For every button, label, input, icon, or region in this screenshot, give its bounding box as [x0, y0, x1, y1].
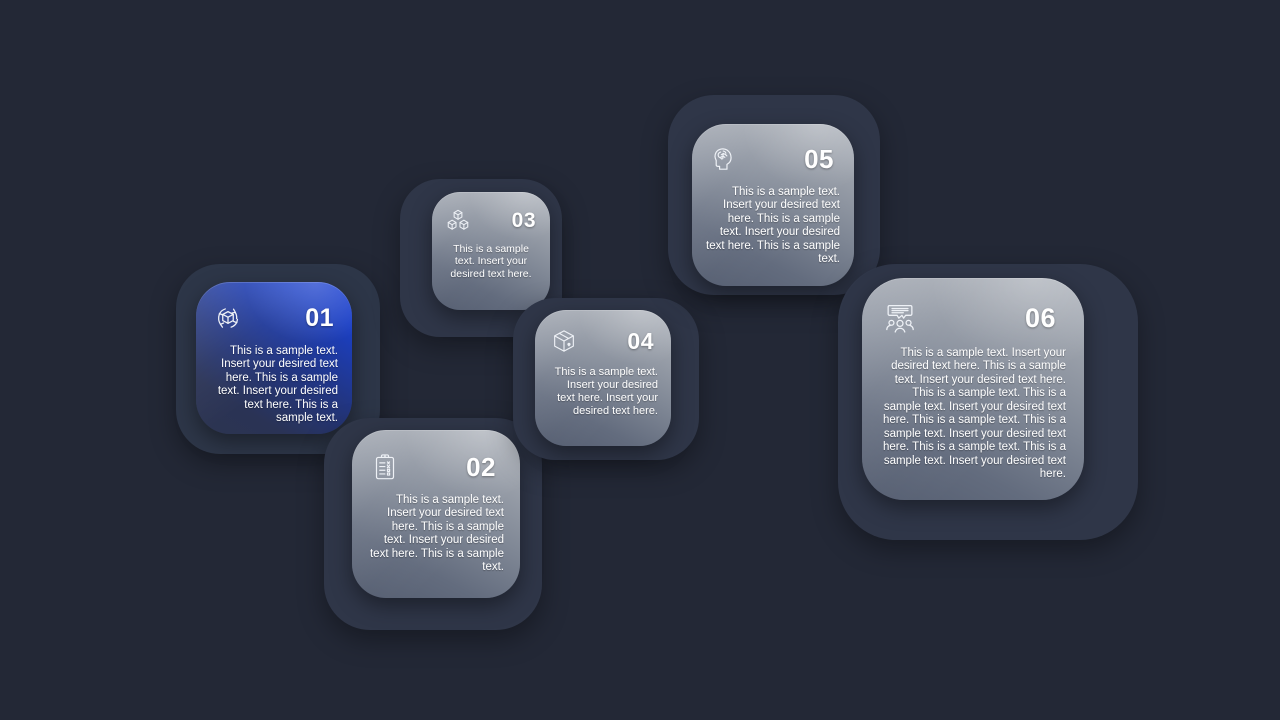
card-header-03: 03	[443, 205, 539, 235]
card-header-02: 02	[368, 450, 504, 484]
card-header-04: 04	[548, 325, 658, 357]
card-text-03: This is a sample text. Insert your desir…	[443, 243, 539, 280]
info-card-03[interactable]: 03 This is a sample text. Insert your de…	[432, 192, 550, 310]
card-text-04: This is a sample text. Insert your desir…	[548, 366, 658, 417]
info-card-05[interactable]: 05 This is a sample text. Insert your de…	[692, 124, 854, 286]
stacked-cubes-icon	[443, 205, 473, 235]
card-header-05: 05	[706, 142, 840, 176]
package-box-icon	[548, 325, 580, 357]
box-refresh-icon	[210, 300, 246, 336]
clipboard-checklist-icon	[368, 450, 402, 484]
info-card-04[interactable]: 04 This is a sample text. Insert your de…	[535, 310, 671, 446]
info-card-06[interactable]: 06 This is a sample text. Insert your de…	[862, 278, 1084, 500]
card-number-03: 03	[512, 210, 536, 231]
card-text-06: This is a sample text. Insert your desir…	[880, 347, 1066, 482]
infographic-canvas: 01 This is a sample text. Insert your de…	[0, 0, 1280, 720]
card-number-04: 04	[627, 330, 654, 353]
card-number-06: 06	[1025, 305, 1056, 332]
card-text-02: This is a sample text. Insert your desir…	[368, 494, 504, 575]
card-header-01: 01	[210, 300, 338, 336]
card-number-05: 05	[804, 146, 834, 172]
head-brain-icon	[706, 142, 740, 176]
card-text-05: This is a sample text. Insert your desir…	[706, 186, 840, 267]
card-text-01: This is a sample text. Insert your desir…	[210, 345, 338, 426]
card-number-01: 01	[305, 306, 334, 331]
speech-bubble-people-icon	[880, 300, 920, 336]
info-card-02[interactable]: 02 This is a sample text. Insert your de…	[352, 430, 520, 598]
card-number-02: 02	[466, 454, 496, 480]
card-header-06: 06	[880, 300, 1066, 336]
info-card-01[interactable]: 01 This is a sample text. Insert your de…	[196, 282, 352, 434]
